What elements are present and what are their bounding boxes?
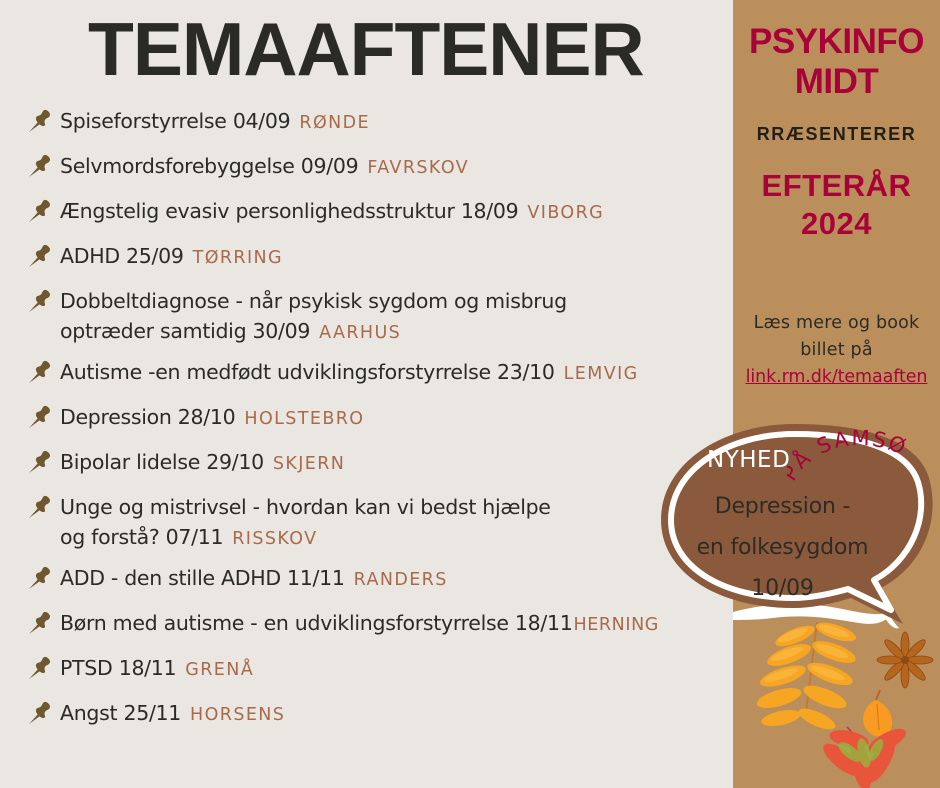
pushpin-icon xyxy=(26,699,54,727)
event-city: SKJERN xyxy=(273,454,345,474)
list-item[interactable]: Angst 25/11HORSENS xyxy=(26,696,736,734)
list-item-text: Dobbeltdiagnose - når psykisk sygdom og … xyxy=(60,284,567,348)
list-item[interactable]: ADHD 25/09TØRRING xyxy=(26,239,736,277)
pushpin-icon xyxy=(26,564,54,592)
list-item[interactable]: PTSD 18/11GRENÅ xyxy=(26,651,736,689)
event-city: AARHUS xyxy=(319,323,401,343)
event-city: HERNING xyxy=(573,615,658,635)
curved-samso-text: PÅ SAMSØ xyxy=(787,428,911,485)
list-item-text: ADHD 25/09TØRRING xyxy=(60,239,283,273)
list-item[interactable]: Depression 28/10HOLSTEBRO xyxy=(26,400,736,438)
pushpin-icon xyxy=(26,358,54,386)
event-city: RANDERS xyxy=(354,570,448,590)
list-item[interactable]: Unge og mistrivsel - hvordan kan vi beds… xyxy=(26,490,736,554)
list-item-text: ADD - den stille ADHD 11/11RANDERS xyxy=(60,561,448,595)
event-title: Børn med autisme - en udviklingsforstyrr… xyxy=(60,611,572,635)
event-title: Selvmordsforebyggelse 09/09 xyxy=(60,154,358,178)
list-item[interactable]: Autisme -en medfødt udviklingsforstyrrel… xyxy=(26,355,736,393)
list-item-text: Spiseforstyrrelse 04/09RØNDE xyxy=(60,104,370,138)
event-city: VIBORG xyxy=(527,203,604,223)
list-item-text: PTSD 18/11GRENÅ xyxy=(60,651,254,685)
event-title: Angst 25/11 xyxy=(60,701,181,725)
event-title: Dobbeltdiagnose - når psykisk sygdom og … xyxy=(60,289,567,343)
booking-line-2: billet på xyxy=(733,337,940,364)
list-item[interactable]: Spiseforstyrrelse 04/09RØNDE xyxy=(26,104,736,142)
event-title: Spiseforstyrrelse 04/09 xyxy=(60,109,290,133)
pushpin-icon xyxy=(26,242,54,270)
event-title: Bipolar lidelse 29/10 xyxy=(60,450,264,474)
event-city: RISSKOV xyxy=(232,529,317,549)
page-title: TEMAAFTENER xyxy=(88,6,644,92)
list-item-text: Depression 28/10HOLSTEBRO xyxy=(60,400,364,434)
pushpin-icon xyxy=(26,493,54,521)
pushpin-icon xyxy=(26,403,54,431)
bubble-content: NYHED PÅ SAMSØ Depression - en folkesygd… xyxy=(655,420,940,645)
sidebar: PSYKINFO MIDT RRÆSENTERER EFTERÅR 2024 L… xyxy=(733,0,940,788)
pushpin-icon xyxy=(26,287,54,315)
booking-line-1: Læs mere og book xyxy=(733,310,940,337)
event-title: ADHD 25/09 xyxy=(60,244,184,268)
bubble-body-text: Depression - en folkesygdom 10/09 xyxy=(655,486,910,609)
brand-name-line-2: MIDT xyxy=(733,62,940,102)
event-title: Ængstelig evasiv personlighedsstruktur 1… xyxy=(60,199,518,223)
list-item[interactable]: Ængstelig evasiv personlighedsstruktur 1… xyxy=(26,194,736,232)
list-item-text: Angst 25/11HORSENS xyxy=(60,696,285,730)
season-year: 2024 xyxy=(733,205,940,243)
event-list: Spiseforstyrrelse 04/09RØNDE Selvmordsfo… xyxy=(26,104,736,741)
event-city: HORSENS xyxy=(190,705,285,725)
event-city: HOLSTEBRO xyxy=(244,409,364,429)
pushpin-icon xyxy=(26,107,54,135)
list-item[interactable]: Børn med autisme - en udviklingsforstyrr… xyxy=(26,606,736,644)
list-item[interactable]: Dobbeltdiagnose - når psykisk sygdom og … xyxy=(26,284,736,348)
pushpin-icon xyxy=(26,448,54,476)
list-item-text: Autisme -en medfødt udviklingsforstyrrel… xyxy=(60,355,639,389)
list-item-text: Bipolar lidelse 29/10SKJERN xyxy=(60,445,345,479)
news-badge: NYHED xyxy=(707,447,790,473)
booking-link[interactable]: link.rm.dk/temaaften xyxy=(733,364,940,390)
event-title: Autisme -en medfødt udviklingsforstyrrel… xyxy=(60,360,555,384)
news-speech-bubble[interactable]: NYHED PÅ SAMSØ Depression - en folkesygd… xyxy=(655,420,940,645)
list-item[interactable]: Selvmordsforebyggelse 09/09FAVRSKOV xyxy=(26,149,736,187)
list-item[interactable]: Bipolar lidelse 29/10SKJERN xyxy=(26,445,736,483)
event-city: FAVRSKOV xyxy=(367,158,469,178)
event-city: LEMVIG xyxy=(564,364,639,384)
pushpin-icon xyxy=(26,654,54,682)
pushpin-icon xyxy=(26,152,54,180)
season-line-1: EFTERÅR xyxy=(733,167,940,205)
brand-name-line-1: PSYKINFO xyxy=(733,22,940,62)
pushpin-icon xyxy=(26,609,54,637)
event-title: ADD - den stille ADHD 11/11 xyxy=(60,566,345,590)
svg-text:PÅ SAMSØ: PÅ SAMSØ xyxy=(787,428,911,485)
presents-label: RRÆSENTERER xyxy=(733,124,940,145)
event-city: GRENÅ xyxy=(185,660,254,680)
event-title: PTSD 18/11 xyxy=(60,656,176,680)
booking-info: Læs mere og book billet på xyxy=(733,310,940,364)
event-city: TØRRING xyxy=(193,248,283,268)
list-item-text: Selvmordsforebyggelse 09/09FAVRSKOV xyxy=(60,149,469,183)
event-title: Depression 28/10 xyxy=(60,405,235,429)
poster-canvas: TEMAAFTENER Spiseforstyrrelse 04/09RØNDE… xyxy=(0,0,940,788)
list-item-text: Børn med autisme - en udviklingsforstyrr… xyxy=(60,606,659,640)
event-city: RØNDE xyxy=(299,113,370,133)
pushpin-icon xyxy=(26,197,54,225)
list-item-text: Unge og mistrivsel - hvordan kan vi beds… xyxy=(60,490,551,554)
list-item[interactable]: ADD - den stille ADHD 11/11RANDERS xyxy=(26,561,736,599)
list-item-text: Ængstelig evasiv personlighedsstruktur 1… xyxy=(60,194,604,228)
